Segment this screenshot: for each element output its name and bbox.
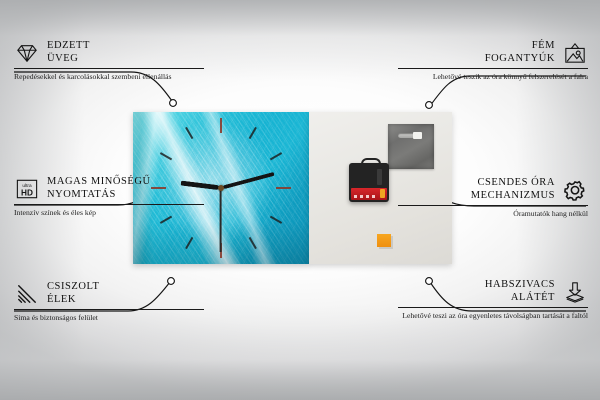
callout-title: CSENDES ÓRA MECHANIZMUS <box>471 177 555 202</box>
picture-hanger-icon <box>562 42 588 64</box>
quartz-mechanism <box>349 163 389 202</box>
callout-header: FÉM FOGANTYÚK <box>398 40 588 65</box>
callout-silent-mechanism: CSENDES ÓRA MECHANIZMUS Óramutatók hang … <box>398 177 588 219</box>
callout-title: HABSZIVACS ALÁTÉT <box>485 279 555 304</box>
foam-pad-arrow-icon <box>562 281 588 303</box>
callout-tempered-glass: EDZETT ÜVEG Repedésekkel és karcolásokka… <box>14 40 204 82</box>
callout-divider <box>398 307 588 308</box>
callout-header: CSENDES ÓRA MECHANIZMUS <box>398 177 588 202</box>
callout-divider <box>398 205 588 206</box>
callout-description: Repedésekkel és karcolásokkal szembeni e… <box>14 72 204 82</box>
leader-dot-metal-handles <box>426 102 433 109</box>
callout-description: Sima és biztonságos felület <box>14 313 204 323</box>
callout-description: Lehetővé teszik az óra könnyű felszerelé… <box>398 72 588 82</box>
metal-hanger-plate <box>388 124 434 169</box>
mechanism-shaft <box>377 169 382 185</box>
callout-title: CSISZOLT ÉLEK <box>47 281 99 306</box>
callout-metal-handles: FÉM FOGANTYÚK Lehetővé teszik az óra kön… <box>398 40 588 82</box>
leader-dot-tempered-glass <box>170 100 177 107</box>
callout-header: CSISZOLT ÉLEK <box>14 281 204 306</box>
callout-divider <box>14 309 204 310</box>
callout-header: EDZETT ÜVEG <box>14 40 204 65</box>
callout-description: Lehetővé teszi az óra egyenletes távolsá… <box>398 311 588 321</box>
callout-divider <box>14 68 204 69</box>
mechanism-hook <box>361 158 381 168</box>
ultra-hd-icon: ultra HD <box>14 178 40 200</box>
callout-foam-pad: HABSZIVACS ALÁTÉT Lehetővé teszi az óra … <box>398 279 588 321</box>
callout-polished-edges: CSISZOLT ÉLEK Sima és biztonságos felüle… <box>14 281 204 323</box>
diamond-icon <box>14 42 40 64</box>
clock-tick <box>220 118 222 188</box>
gear-icon <box>562 179 588 201</box>
polished-edge-icon <box>14 283 40 305</box>
callout-description: Intenzív színek és éles kép <box>14 208 204 218</box>
callout-header: HABSZIVACS ALÁTÉT <box>398 279 588 304</box>
orange-foam-pad <box>377 234 391 247</box>
battery <box>351 188 387 200</box>
callout-title: EDZETT ÜVEG <box>47 40 90 65</box>
callout-hd-print: ultra HD MAGAS MINŐSÉGŰ NYOMTATÁS Intenz… <box>14 176 204 218</box>
callout-divider <box>14 204 204 205</box>
clock-tick <box>221 187 291 189</box>
clock-second-hand <box>220 188 222 252</box>
callout-divider <box>398 68 588 69</box>
callout-title: MAGAS MINŐSÉGŰ NYOMTATÁS <box>47 176 151 201</box>
svg-text:HD: HD <box>21 188 33 197</box>
callout-header: ultra HD MAGAS MINŐSÉGŰ NYOMTATÁS <box>14 176 204 201</box>
clock-center-cap <box>218 185 224 191</box>
hanger-slot <box>398 133 422 138</box>
callout-title: FÉM FOGANTYÚK <box>485 40 555 65</box>
callout-description: Óramutatók hang nélkül <box>398 209 588 219</box>
